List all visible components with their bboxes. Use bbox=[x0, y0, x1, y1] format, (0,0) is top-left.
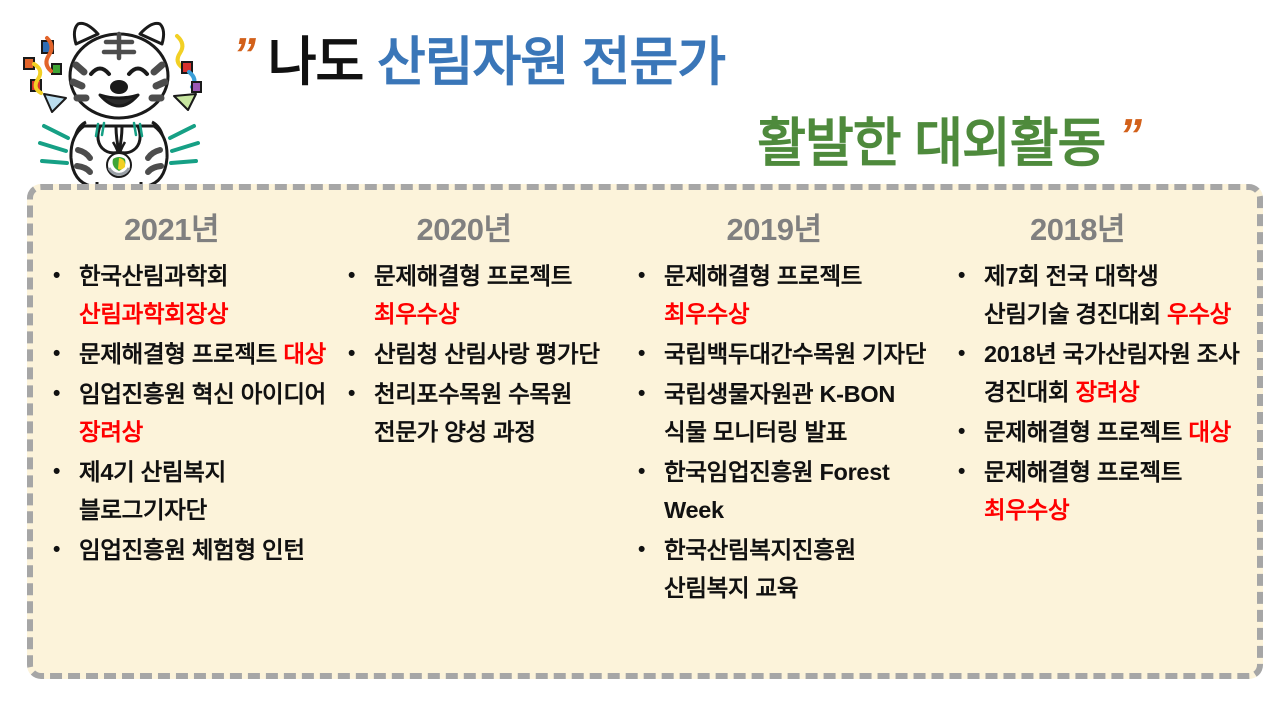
close-quote-mark: ” bbox=[1119, 109, 1140, 161]
item-text: 문제해결형 프로젝트 bbox=[664, 263, 862, 289]
item-highlight: 최우수상 bbox=[374, 301, 459, 327]
item-text: 천리포수목원 수목원 전문가 양성 과정 bbox=[374, 381, 572, 445]
tiger-body bbox=[71, 122, 167, 190]
achievement-list-2021: 한국산림과학회 산림과학회장상 문제해결형 프로젝트 대상 임업진흥원 혁신 아… bbox=[45, 257, 328, 569]
item-highlight: 대상 bbox=[283, 341, 326, 367]
year-header: 2018년 bbox=[950, 204, 1245, 249]
title-text-black: 나도 bbox=[268, 33, 377, 92]
list-item: 문제해결형 프로젝트 대상 bbox=[45, 335, 328, 373]
item-text: 국립백두대간수목원 기자단 bbox=[664, 341, 926, 367]
white-tiger-mascot bbox=[14, 10, 224, 190]
year-column-2018: 2018년 제7회 전국 대학생 산림기술 경진대회 우수상 2018년 국가산… bbox=[944, 204, 1251, 663]
list-item: 국립백두대간수목원 기자단 bbox=[630, 335, 938, 373]
list-item: 천리포수목원 수목원 전문가 양성 과정 bbox=[340, 375, 618, 451]
tiger-head bbox=[70, 23, 168, 118]
list-item: 문제해결형 프로젝트 최우수상 bbox=[630, 257, 938, 333]
item-text: 제7회 전국 대학생 산림기술 경진대회 bbox=[984, 263, 1167, 327]
title-line-2: 활발한 대외활동 ” bbox=[225, 99, 1225, 180]
year-columns: 2021년 한국산림과학회 산림과학회장상 문제해결형 프로젝트 대상 임업진흥… bbox=[33, 190, 1257, 673]
item-text: 문제해결형 프로젝트 bbox=[984, 459, 1182, 485]
achievements-panel: 2021년 한국산림과학회 산림과학회장상 문제해결형 프로젝트 대상 임업진흥… bbox=[27, 184, 1263, 679]
item-highlight: 장려상 bbox=[1076, 379, 1140, 405]
title-line-1: ” 나도 산림자원 전문가 bbox=[225, 18, 1225, 99]
item-text: 제4기 산림복지 블로그기자단 bbox=[79, 459, 226, 523]
item-text: 임업진흥원 혁신 아이디어 bbox=[79, 381, 326, 407]
item-highlight: 최우수상 bbox=[664, 301, 749, 327]
item-highlight: 우수상 bbox=[1167, 301, 1231, 327]
list-item: 산림청 산림사랑 평가단 bbox=[340, 335, 618, 373]
year-column-2021: 2021년 한국산림과학회 산림과학회장상 문제해결형 프로젝트 대상 임업진흥… bbox=[39, 204, 334, 663]
year-header: 2020년 bbox=[340, 204, 618, 249]
item-text: 한국산림과학회 bbox=[79, 263, 228, 289]
title-text-blue: 산림자원 전문가 bbox=[377, 33, 725, 92]
item-text: 문제해결형 프로젝트 bbox=[984, 419, 1188, 445]
item-highlight: 장려상 bbox=[79, 419, 143, 445]
list-item: 한국산림복지진흥원 산림복지 교육 bbox=[630, 531, 938, 607]
list-item: 제4기 산림복지 블로그기자단 bbox=[45, 453, 328, 529]
open-quote-mark: ” bbox=[233, 28, 254, 80]
list-item: 한국임업진흥원 Forest Week bbox=[630, 453, 938, 529]
item-highlight: 최우수상 bbox=[984, 497, 1069, 523]
title-text-green: 활발한 대외활동 bbox=[757, 114, 1105, 173]
list-item: 국립생물자원관 K-BON 식물 모니터링 발표 bbox=[630, 375, 938, 451]
confetti-left bbox=[24, 38, 66, 112]
year-header: 2019년 bbox=[630, 204, 938, 249]
confetti-right bbox=[174, 36, 201, 110]
achievement-list-2019: 문제해결형 프로젝트 최우수상 국립백두대간수목원 기자단 국립생물자원관 K-… bbox=[630, 257, 938, 607]
item-text: 한국임업진흥원 Forest Week bbox=[664, 459, 890, 523]
year-column-2019: 2019년 문제해결형 프로젝트 최우수상 국립백두대간수목원 기자단 국립생물… bbox=[624, 204, 944, 663]
slide-title: ” 나도 산림자원 전문가 활발한 대외활동 ” bbox=[225, 18, 1225, 183]
year-column-2020: 2020년 문제해결형 프로젝트 최우수상 산림청 산림사랑 평가단 천리포수목… bbox=[334, 204, 624, 663]
list-item: 문제해결형 프로젝트 대상 bbox=[950, 413, 1245, 451]
item-text: 문제해결형 프로젝트 bbox=[79, 341, 283, 367]
achievement-list-2018: 제7회 전국 대학생 산림기술 경진대회 우수상 2018년 국가산림자원 조사… bbox=[950, 257, 1245, 529]
item-text: 문제해결형 프로젝트 bbox=[374, 263, 572, 289]
list-item: 한국산림과학회 산림과학회장상 bbox=[45, 257, 328, 333]
item-text: 산림청 산림사랑 평가단 bbox=[374, 341, 600, 367]
slide-canvas: ” 나도 산림자원 전문가 활발한 대외활동 ” 2021년 한국산림과학회 산… bbox=[0, 0, 1280, 720]
item-text: 한국산림복지진흥원 산림복지 교육 bbox=[664, 537, 856, 601]
achievement-list-2020: 문제해결형 프로젝트 최우수상 산림청 산림사랑 평가단 천리포수목원 수목원 … bbox=[340, 257, 618, 451]
list-item: 임업진흥원 체험형 인턴 bbox=[45, 531, 328, 569]
list-item: 임업진흥원 혁신 아이디어 장려상 bbox=[45, 375, 328, 451]
list-item: 문제해결형 프로젝트 최우수상 bbox=[950, 453, 1245, 529]
list-item: 문제해결형 프로젝트 최우수상 bbox=[340, 257, 618, 333]
list-item: 2018년 국가산림자원 조사 경진대회 장려상 bbox=[950, 335, 1245, 411]
year-header: 2021년 bbox=[45, 204, 328, 249]
list-item: 제7회 전국 대학생 산림기술 경진대회 우수상 bbox=[950, 257, 1245, 333]
item-text: 임업진흥원 체험형 인턴 bbox=[79, 537, 305, 563]
item-highlight: 산림과학회장상 bbox=[79, 301, 228, 327]
item-text: 국립생물자원관 K-BON 식물 모니터링 발표 bbox=[664, 381, 895, 445]
item-highlight: 대상 bbox=[1188, 419, 1231, 445]
